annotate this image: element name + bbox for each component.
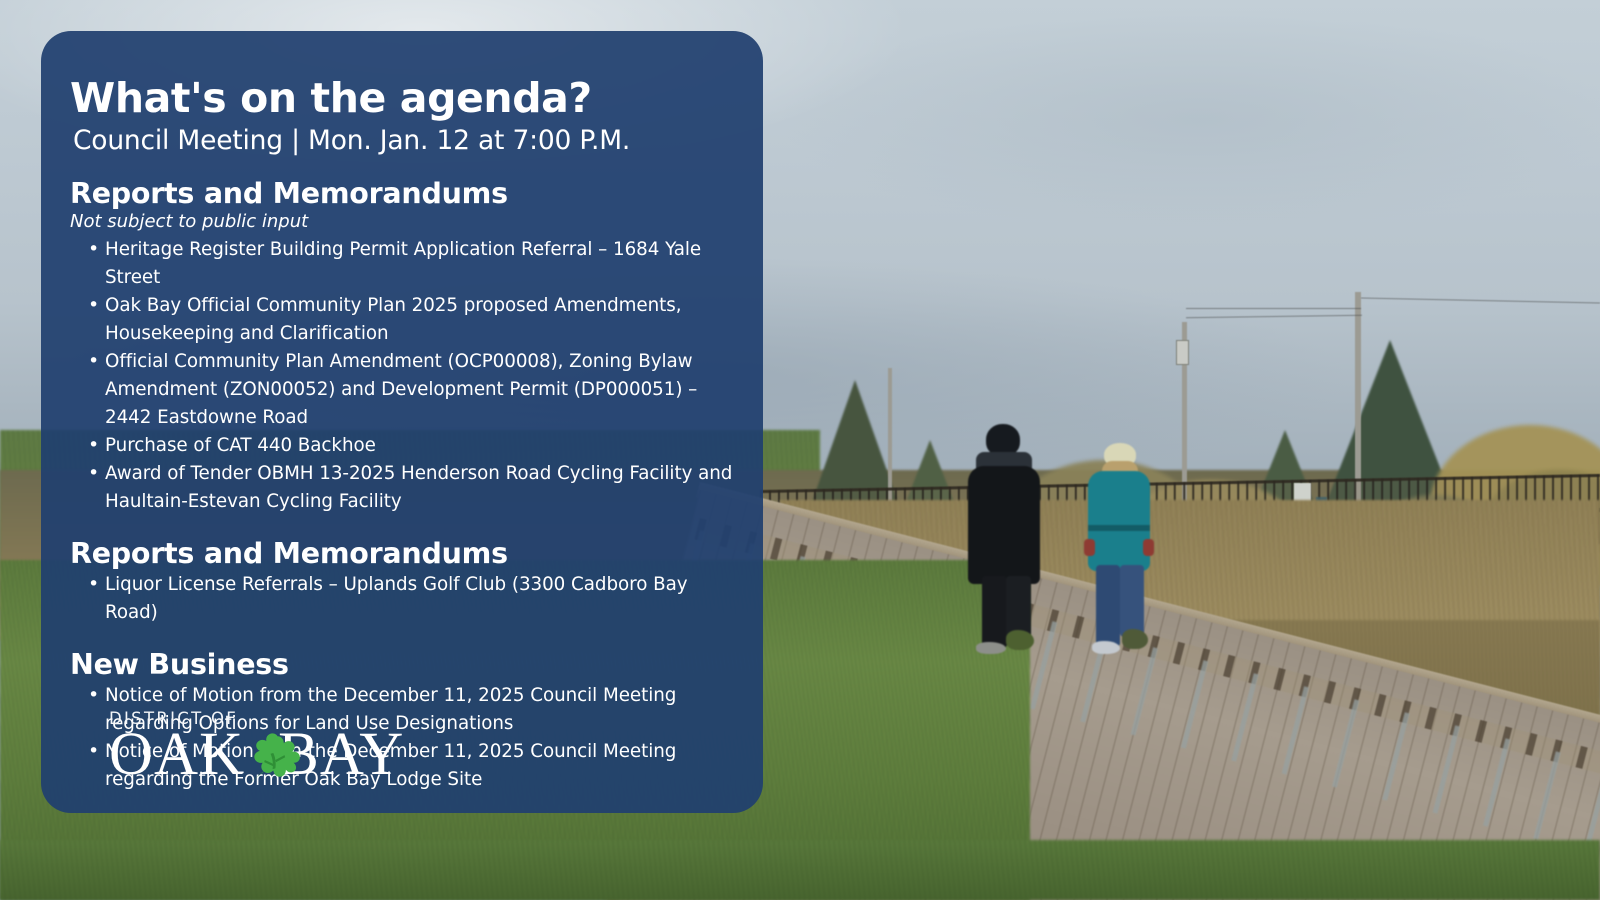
person-shoe bbox=[1006, 630, 1034, 650]
list-item: Heritage Register Building Permit Applic… bbox=[70, 236, 737, 292]
person-teal-jacket bbox=[1084, 443, 1154, 655]
person-leg bbox=[1096, 565, 1120, 647]
page-title: What's on the agenda? bbox=[70, 77, 737, 120]
agenda-list: Liquor License Referrals – Uplands Golf … bbox=[70, 571, 737, 627]
person-jacket bbox=[968, 466, 1040, 584]
agenda-panel: What's on the agenda? Council Meeting | … bbox=[41, 31, 763, 813]
oak-leaf-icon bbox=[237, 732, 311, 788]
person-leg bbox=[1006, 576, 1031, 638]
section-heading: Reports and Memorandums bbox=[70, 177, 737, 210]
list-item: Official Community Plan Amendment (OCP00… bbox=[70, 348, 737, 432]
list-item: Purchase of CAT 440 Backhoe bbox=[70, 432, 737, 460]
person-shoe bbox=[976, 642, 1006, 654]
agenda-list: Heritage Register Building Permit Applic… bbox=[70, 236, 737, 516]
person-leg bbox=[1120, 565, 1144, 637]
person-leg bbox=[982, 576, 1007, 648]
section-note: Not subject to public input bbox=[70, 211, 737, 232]
section-heading: Reports and Memorandums bbox=[70, 537, 737, 570]
person-black-jacket bbox=[962, 424, 1042, 654]
person-glove bbox=[1084, 539, 1095, 556]
person-glove bbox=[1143, 539, 1154, 556]
list-item: Award of Tender OBMH 13-2025 Henderson R… bbox=[70, 460, 737, 516]
person-shoe bbox=[1092, 641, 1120, 654]
logo-word-oak: OAK bbox=[109, 721, 244, 788]
person-belt bbox=[1088, 525, 1150, 531]
section-heading: New Business bbox=[70, 648, 737, 681]
power-line bbox=[1186, 308, 1361, 309]
street-lamp-icon bbox=[1176, 340, 1189, 365]
list-item: Liquor License Referrals – Uplands Golf … bbox=[70, 571, 737, 627]
district-of-oak-bay-logo: DISTRICT OF OAKBAY bbox=[109, 709, 439, 787]
person-jacket bbox=[1088, 471, 1150, 571]
logo-wordmark: OAKBAY bbox=[109, 724, 439, 786]
meeting-subtitle: Council Meeting | Mon. Jan. 12 at 7:00 P… bbox=[73, 126, 737, 156]
bottom-grass bbox=[0, 840, 1600, 900]
person-shoe bbox=[1122, 629, 1148, 649]
list-item: Oak Bay Official Community Plan 2025 pro… bbox=[70, 292, 737, 348]
